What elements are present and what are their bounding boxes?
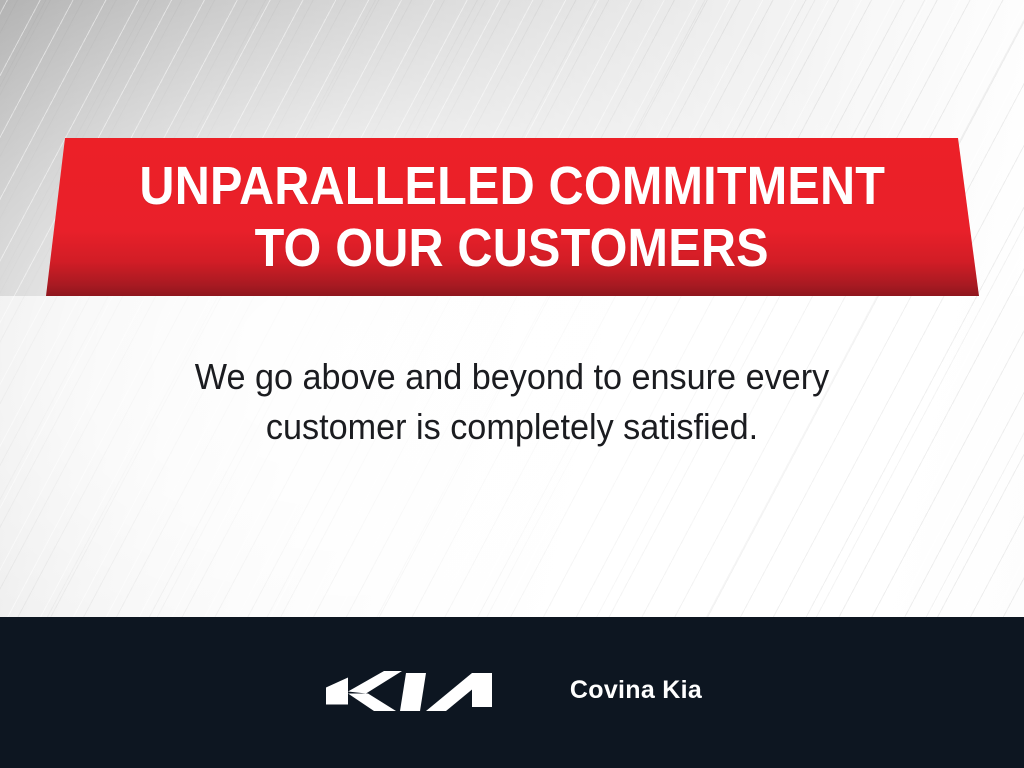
- headline-line-2: TO OUR CUSTOMERS: [255, 217, 769, 279]
- headline-line-1: UNPARALLELED COMMITMENT: [139, 155, 885, 217]
- body-copy-line-2: customer is completely satisfied.: [113, 402, 911, 452]
- brand-footer: Covina Kia: [0, 617, 1024, 768]
- brand-footer-inner: Covina Kia: [322, 667, 702, 715]
- promo-slide: UNPARALLELED COMMITMENT TO OUR CUSTOMERS…: [0, 0, 1024, 768]
- body-copy: We go above and beyond to ensure every c…: [113, 352, 911, 452]
- body-copy-line-1: We go above and beyond to ensure every: [195, 356, 829, 397]
- kia-logo-icon: [322, 667, 518, 715]
- dealer-name: Covina Kia: [570, 676, 702, 705]
- background-middle-band: [0, 296, 1024, 618]
- headline-text-block: UNPARALLELED COMMITMENT TO OUR CUSTOMERS: [0, 138, 1024, 296]
